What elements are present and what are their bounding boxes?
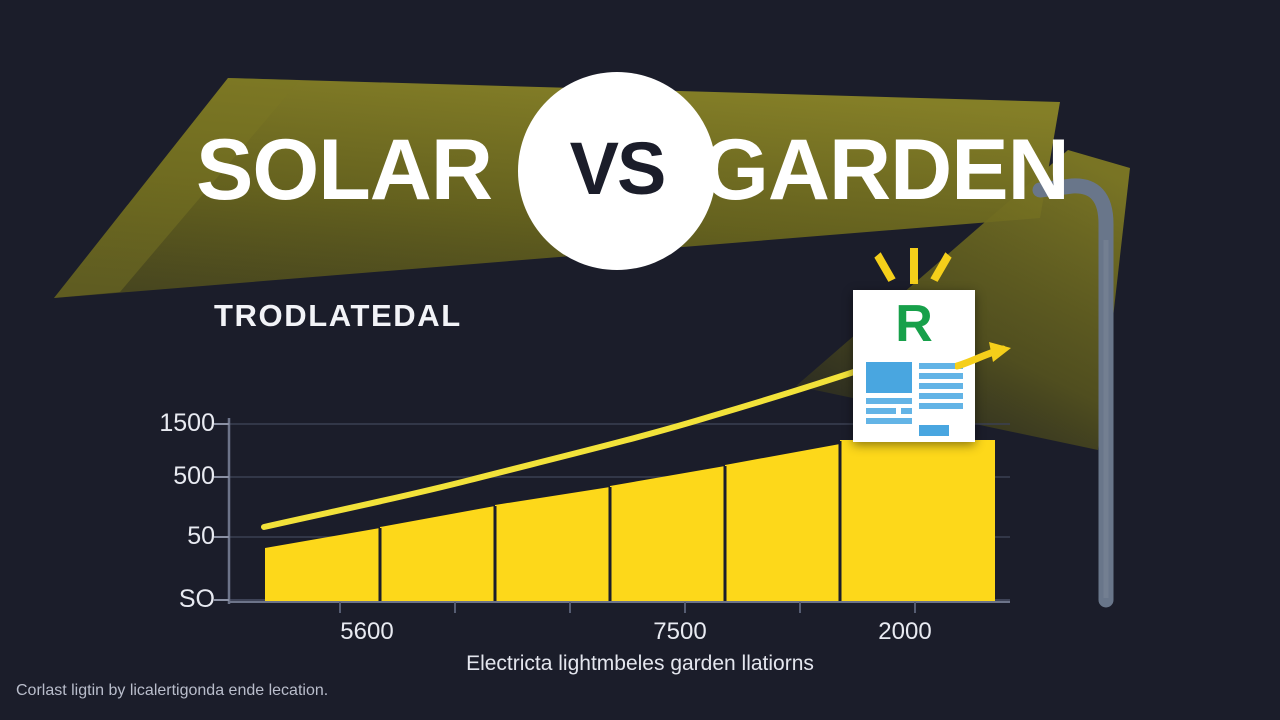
bar-segment [725,444,840,602]
doc-image-block [866,362,912,393]
bar-segment [265,528,380,602]
vs-badge: VS [518,72,716,270]
arrow-right-icon [955,340,1017,378]
y-axis-label: 500 [125,462,215,491]
x-axis-label: 5600 [340,618,393,646]
x-axis-label: 2000 [878,618,931,646]
y-axis-label: SO [125,585,215,614]
headline-right-word: GARDEN [702,104,1069,236]
bar-segment [610,466,725,602]
x-axis-label: 7500 [653,618,706,646]
doc-text-line [919,393,963,399]
vs-badge-label: VS [570,132,665,206]
infographic-canvas: 1500 500 50 SO 5600 7500 2000 Electricta… [0,0,1280,720]
bar-segment [495,487,610,602]
bar-segment-tall [840,440,995,602]
doc-text-line [866,398,912,404]
x-axis-caption: Electricta lightmbeles garden llatiorns [0,652,1280,676]
doc-text-line [919,383,963,389]
doc-text-line [866,408,896,414]
y-axis-label: 50 [125,522,215,551]
footnote-text: Corlast ligtin by licalertigonda ende le… [16,682,328,700]
bar-segment [380,506,495,602]
doc-badge-block [919,425,949,436]
y-axis-label: 1500 [125,409,215,438]
sparkle-rays-icon [858,248,970,292]
x-axis-labels: 5600 7500 2000 [0,618,1280,654]
doc-text-line [866,418,912,424]
headline-left-word: SOLAR [196,104,492,236]
y-axis-ticks [214,424,229,600]
subtitle: TRODLATEDAL [214,298,462,334]
doc-text-line [901,408,912,414]
chart-bars [265,440,995,602]
doc-text-line [919,403,963,409]
x-axis-ticks [340,602,915,613]
